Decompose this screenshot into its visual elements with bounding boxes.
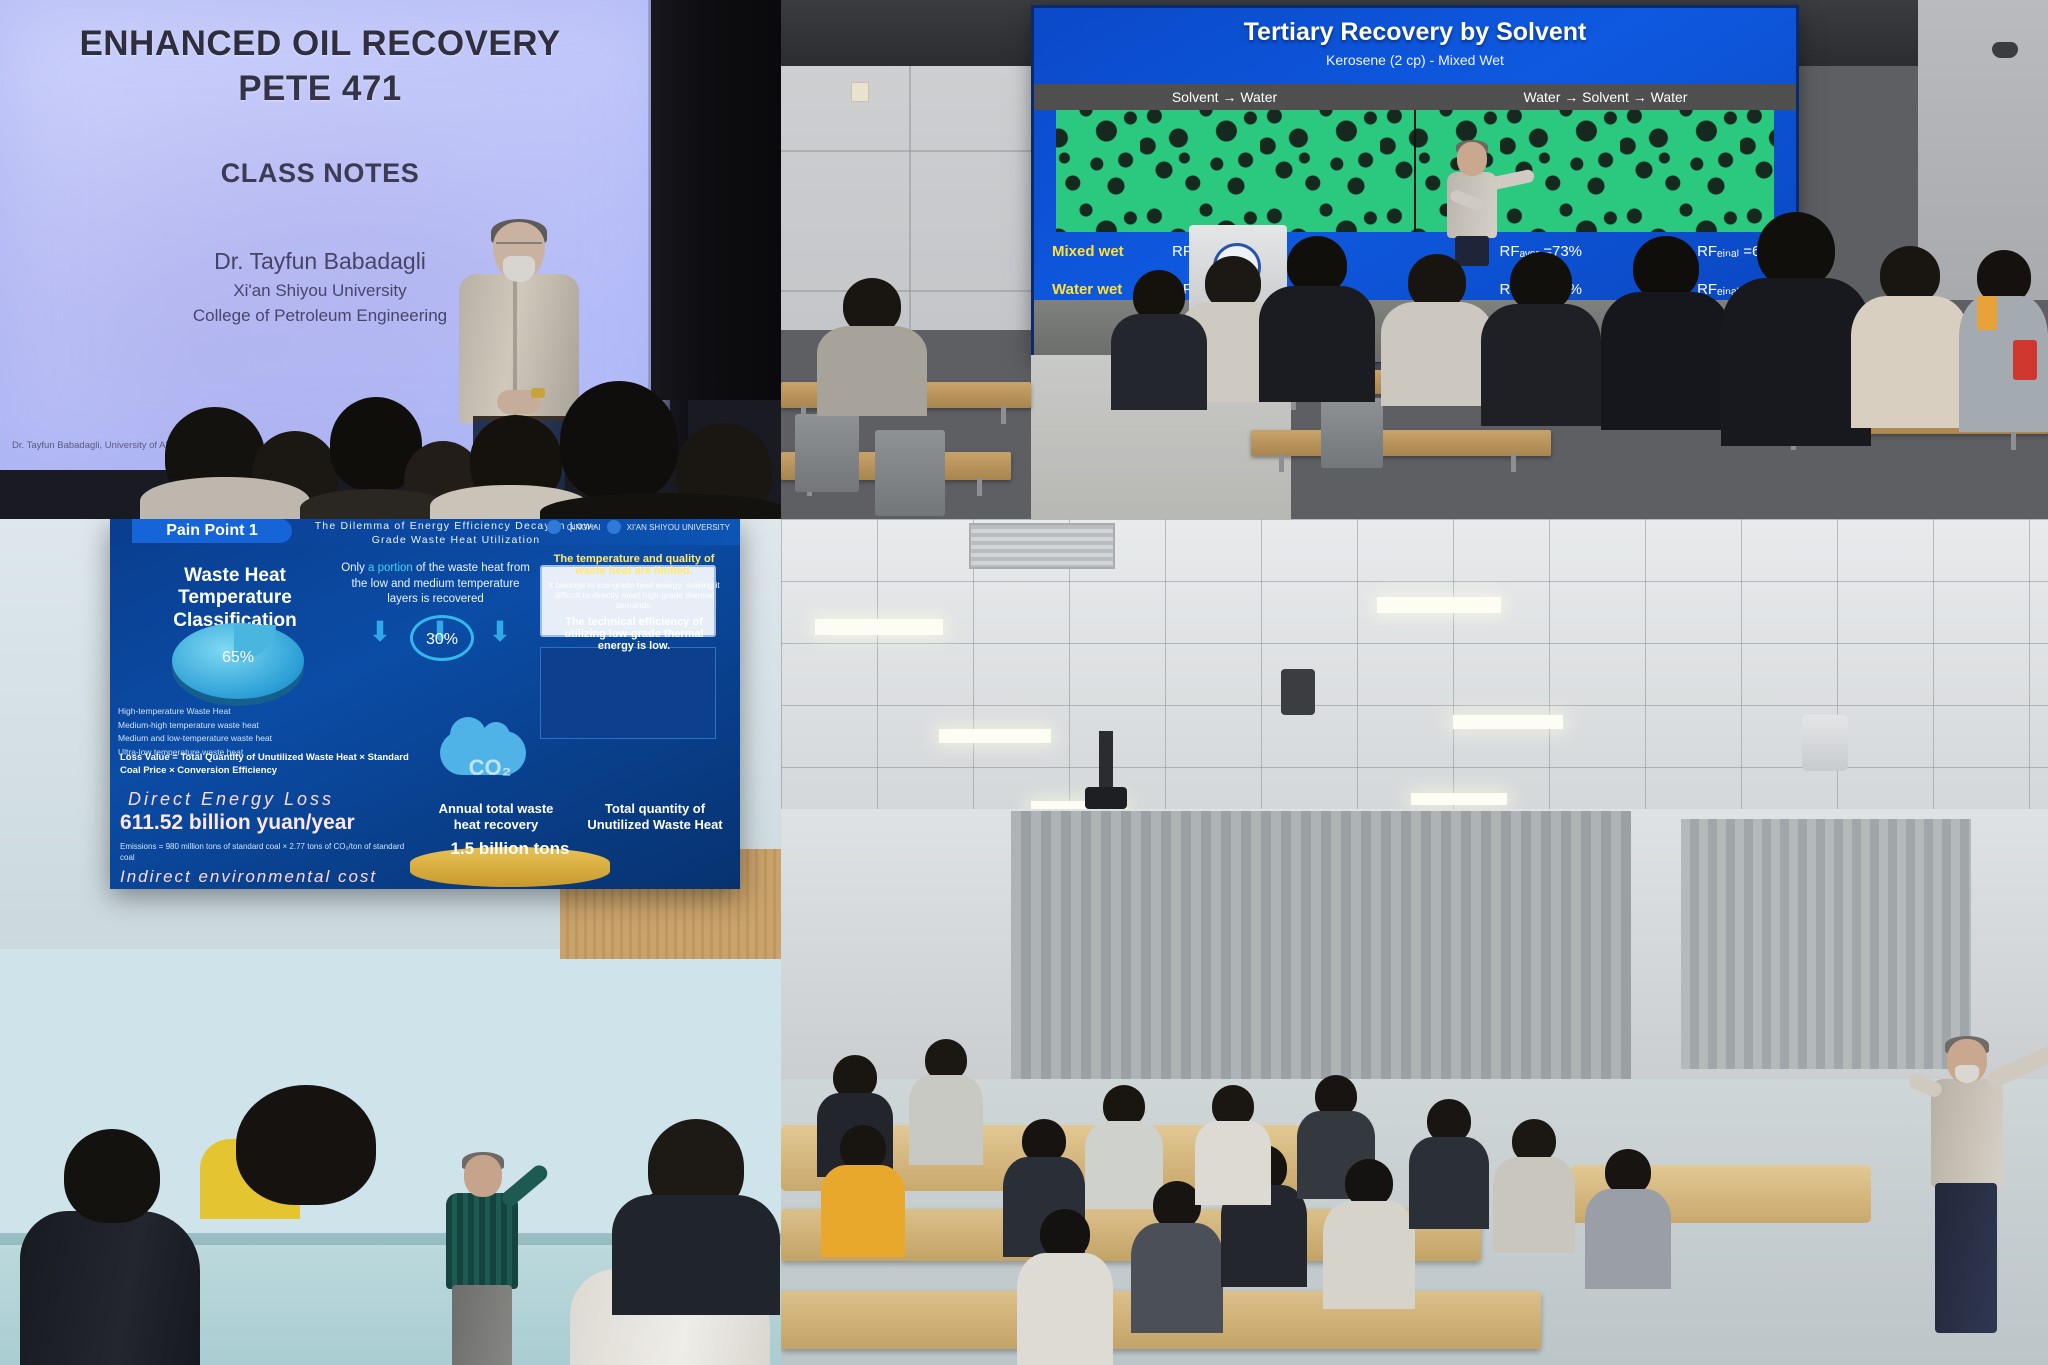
student-torso xyxy=(817,326,927,416)
dark-wall-right xyxy=(651,0,781,400)
instructor-trousers xyxy=(452,1285,512,1365)
pie-value-label: 65% xyxy=(172,649,304,667)
slide-subtitle: CLASS NOTES xyxy=(0,158,640,189)
instructor-arm-pointing xyxy=(499,1162,551,1209)
student-head xyxy=(1040,1209,1090,1259)
desk-leg xyxy=(1001,406,1006,424)
ceiling-speaker-icon xyxy=(1281,669,1315,715)
student-torso xyxy=(1017,1253,1113,1365)
student-figure xyxy=(1601,236,1731,426)
student-torso xyxy=(1481,304,1601,426)
air-vent-icon xyxy=(969,523,1115,569)
pore-pattern xyxy=(1056,110,1414,232)
ceiling-light xyxy=(939,729,1051,743)
student-torso xyxy=(1601,292,1731,430)
arrow-down-icon: ⬇ xyxy=(488,615,511,648)
right-column-text: The temperature and quality of waste hea… xyxy=(548,553,720,652)
instructor-head xyxy=(464,1155,502,1197)
pain-point-badge: Pain Point 1 xyxy=(132,519,292,543)
audience-shoulders xyxy=(300,489,450,519)
instructor-arm-raised xyxy=(1986,1042,2048,1089)
chair[interactable] xyxy=(1321,398,1383,468)
student-torso xyxy=(1721,278,1871,446)
window-curtain xyxy=(1011,811,1631,1103)
slide-title-line1: ENHANCED OIL RECOVERY xyxy=(0,22,640,67)
panel-title-slide: ENHANCED OIL RECOVERY PETE 471 CLASS NOT… xyxy=(0,0,781,519)
audience-shoulders xyxy=(140,477,310,519)
instructor-shirt xyxy=(1931,1079,2003,1187)
student-head xyxy=(1510,252,1572,312)
student-figure xyxy=(1585,1149,1671,1287)
student-torso xyxy=(821,1165,905,1257)
student-jacket xyxy=(20,1211,200,1365)
chair[interactable] xyxy=(795,414,859,492)
instructor-beard xyxy=(1955,1065,1979,1083)
instructor-sweater xyxy=(446,1193,518,1289)
wall-speaker-icon xyxy=(1802,715,1848,771)
loss-value-formula: Loss Value = Total Quantity of Unutilize… xyxy=(120,751,420,778)
instructor-figure-pointing xyxy=(1439,142,1523,262)
student-head xyxy=(64,1129,160,1223)
desk-leg xyxy=(1511,454,1516,472)
instructor-figure-pointing xyxy=(430,1155,550,1365)
recovered-percentage-badge: 30% xyxy=(410,615,474,661)
slide2-subtitle: Kerosene (2 cp) - Mixed Wet xyxy=(1034,52,1796,68)
legend-item: Medium and low-temperature waste heat xyxy=(118,732,333,746)
student-torso xyxy=(1131,1223,1223,1333)
ceiling-projector-mount xyxy=(1099,731,1113,791)
window-curtain xyxy=(1681,819,1971,1069)
slide-title: ENHANCED OIL RECOVERY PETE 471 xyxy=(0,22,640,112)
student-torso xyxy=(1381,302,1493,406)
right-title: The temperature and quality of waste hea… xyxy=(548,553,720,577)
student-torso xyxy=(1409,1137,1489,1229)
desk-leg xyxy=(1279,454,1284,472)
student-torso xyxy=(1585,1189,1671,1289)
ceiling-light xyxy=(815,619,943,635)
instructor-figure-gesturing xyxy=(1901,1039,2048,1339)
slide-title-line2: PETE 471 xyxy=(0,67,640,112)
audience-foreground xyxy=(0,359,781,519)
ceiling-light xyxy=(1377,597,1501,613)
student-head xyxy=(1633,236,1699,300)
instructor-trousers xyxy=(1935,1183,1997,1333)
university-emblem-icon xyxy=(547,520,561,534)
student-desk[interactable] xyxy=(1251,430,1551,456)
projection-screen-waste-heat: Pain Point 1 The Dilemma of Energy Effic… xyxy=(110,519,740,889)
instructor-head xyxy=(1457,142,1487,176)
university-logos: QINGHAI XI'AN SHIYOU UNIVERSITY xyxy=(547,520,730,534)
student-figure xyxy=(1481,252,1601,422)
student-figure xyxy=(1721,212,1871,442)
student-torso xyxy=(1323,1201,1415,1309)
photo-collage: ENHANCED OIL RECOVERY PETE 471 CLASS NOT… xyxy=(0,0,2048,1365)
right-body: It belongs to low-grade heat energy, mak… xyxy=(548,580,720,610)
slide2-title: Tertiary Recovery by Solvent xyxy=(1034,18,1796,47)
university-emblem-icon xyxy=(607,520,621,534)
chair[interactable] xyxy=(875,430,945,516)
ceiling-light xyxy=(1411,793,1507,805)
glasses-icon xyxy=(496,242,542,251)
column-label-water-solvent-water: Water → Solvent → Water xyxy=(1415,89,1796,105)
university-name-1: QINGHAI xyxy=(567,523,601,532)
emissions-note: Emissions = 980 million tons of standard… xyxy=(120,841,410,863)
student-head xyxy=(1345,1159,1393,1207)
annual-recovery-label: Annual total waste heat recovery xyxy=(426,801,566,832)
middle-text-pre: Only xyxy=(341,562,365,574)
middle-explanatory-text: Only a portion of the waste heat from th… xyxy=(338,561,533,608)
student-figure xyxy=(1259,236,1375,396)
panel-lecture-hall: Tertiary Recovery by Solvent Kerosene (2… xyxy=(781,0,2048,519)
student-torso xyxy=(1111,314,1207,410)
university-name-2: XI'AN SHIYOU UNIVERSITY xyxy=(627,523,730,532)
ceiling-light xyxy=(1453,715,1563,729)
student-torso xyxy=(1195,1121,1271,1205)
student-torso xyxy=(1851,296,1969,428)
unutilized-heat-label: Total quantity of Unutilized Waste Heat xyxy=(580,801,730,832)
panel-waste-heat-slide: Pain Point 1 The Dilemma of Energy Effic… xyxy=(0,519,781,1365)
annual-recovery-value: 1.5 billion tons xyxy=(410,839,610,859)
audience-head xyxy=(560,381,678,501)
student-torso xyxy=(612,1195,780,1315)
desk-leg xyxy=(2011,432,2016,450)
pie-chart: 65% xyxy=(172,623,304,699)
drink-cup[interactable] xyxy=(1977,296,1997,330)
core-image-left xyxy=(1056,110,1414,232)
equipment-photo-thumbnail xyxy=(540,647,716,739)
middle-text-highlight: a portion xyxy=(368,562,413,574)
legend-item: High-temperature Waste Heat xyxy=(118,705,333,719)
student-figure xyxy=(1017,1209,1113,1365)
wall-switch-plate[interactable] xyxy=(851,82,869,102)
panel-classroom-students xyxy=(781,519,2048,1365)
student-figure-foreground-left xyxy=(20,1129,200,1365)
student-figure xyxy=(1409,1099,1489,1225)
instructor-arm-left xyxy=(1907,1072,1944,1100)
student-figure xyxy=(909,1039,983,1163)
student-figure xyxy=(1381,254,1493,404)
camera-icon xyxy=(1992,42,2018,58)
student-torso xyxy=(1259,286,1375,402)
student-figure xyxy=(1493,1119,1575,1249)
arrow-down-icon: ⬇ xyxy=(368,615,391,648)
student-torso xyxy=(909,1075,983,1165)
direct-energy-loss-label: Direct Energy Loss xyxy=(128,789,408,810)
instructor-beard xyxy=(503,256,535,282)
direct-energy-loss-value: 611.52 billion yuan/year xyxy=(120,811,420,835)
slide2-column-labels: Solvent → Water Water → Solvent → Water xyxy=(1034,84,1796,110)
student-figure xyxy=(1323,1159,1415,1307)
student-head xyxy=(1153,1181,1201,1229)
desk-leg xyxy=(977,478,982,496)
student-figure xyxy=(1111,270,1207,406)
right-title2: The technical efficiency of utilizing lo… xyxy=(548,616,720,652)
row-wettability: Mixed wet xyxy=(1052,243,1172,260)
student-figure xyxy=(1195,1085,1271,1201)
indirect-cost-label: Indirect environmental cost xyxy=(120,867,440,887)
legend-item: Medium-high temperature waste heat xyxy=(118,719,333,733)
slide2-core-images xyxy=(1056,110,1774,232)
student-torso xyxy=(1493,1157,1575,1253)
student-figure xyxy=(1851,246,1969,426)
student-head xyxy=(236,1085,376,1205)
student-figure xyxy=(817,278,927,408)
co2-label: CO₂ xyxy=(430,755,550,781)
column-label-solvent-water: Solvent → Water xyxy=(1034,89,1415,105)
student-figure xyxy=(821,1125,905,1255)
drink-cup[interactable] xyxy=(2013,340,2037,380)
student-head xyxy=(1757,212,1835,288)
